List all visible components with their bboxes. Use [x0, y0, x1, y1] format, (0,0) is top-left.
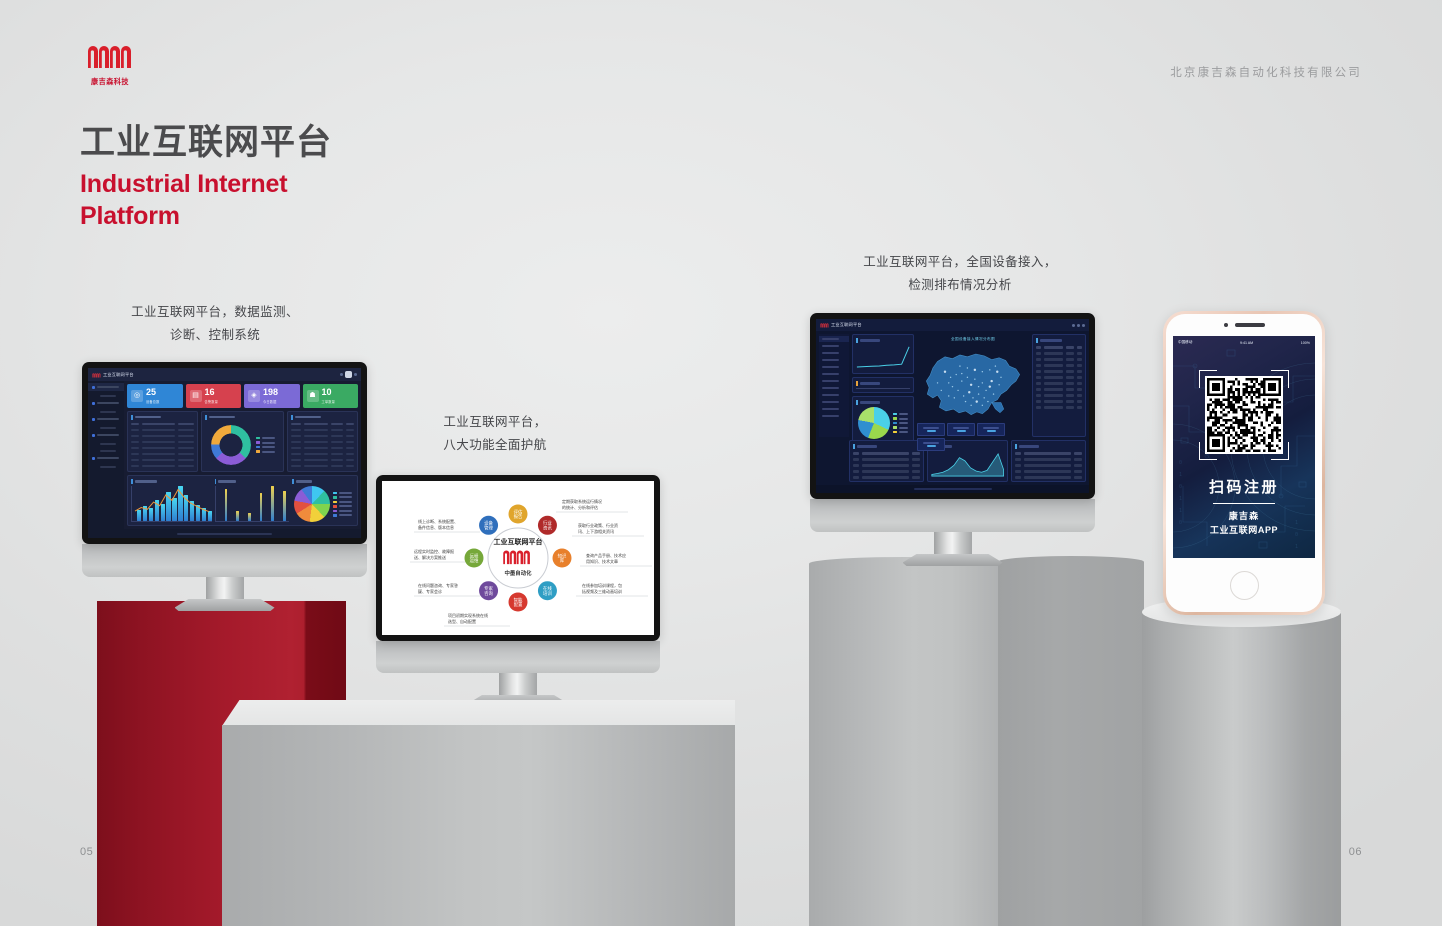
map-point[interactable]	[976, 400, 978, 402]
legend-item	[256, 441, 275, 444]
map-point[interactable]	[950, 377, 951, 378]
table-row[interactable]	[291, 458, 354, 463]
monitor3-screen[interactable]: 工业互联网平台	[816, 319, 1089, 493]
grouped-bar-series	[215, 486, 290, 522]
sidebar-item-10[interactable]	[819, 399, 849, 405]
bar	[236, 511, 239, 521]
page-number-left: 05	[80, 846, 93, 858]
table-header-row	[1036, 345, 1082, 350]
diagram-note: 备件信息、版本信息	[418, 524, 454, 530]
map-point[interactable]	[995, 365, 996, 366]
map-point[interactable]	[967, 377, 968, 378]
monitor-icon: ▤	[190, 390, 202, 402]
sidebar-item-9[interactable]	[819, 392, 849, 398]
status-carrier: 中国移动	[1178, 340, 1192, 345]
diagram-note: 线上诊断、系统配置、	[418, 518, 458, 524]
map-point[interactable]	[972, 397, 973, 398]
sidebar-subitem-2[interactable]	[88, 408, 124, 415]
kpi-card-3[interactable]: ◈198今日数据	[244, 384, 300, 408]
map-point[interactable]	[987, 401, 988, 402]
dashboard1-body: ◎25设备总数▤16告警数量◈198今日数据☗10工单数量	[88, 381, 361, 529]
table-row[interactable]	[291, 428, 354, 433]
map-point[interactable]	[982, 405, 983, 406]
map-point[interactable]	[998, 384, 999, 385]
map-point[interactable]	[978, 393, 979, 394]
map-point[interactable]	[978, 386, 979, 387]
table-row[interactable]	[1015, 457, 1082, 462]
map-point[interactable]	[959, 365, 960, 366]
map-point[interactable]	[968, 391, 970, 393]
stat-box[interactable]	[977, 423, 1005, 436]
search-icon: ◎	[131, 390, 143, 402]
monitor3-neck	[934, 532, 972, 554]
table-row[interactable]	[1036, 357, 1082, 362]
diagram-note: 用知识、技术文章	[586, 558, 618, 564]
stat-box[interactable]	[917, 438, 945, 451]
sidebar-item-8[interactable]	[819, 385, 849, 391]
page-title-en-line2: Platform	[80, 200, 287, 232]
card-title	[205, 415, 280, 420]
map-point[interactable]	[941, 390, 942, 391]
sidebar-item-1[interactable]	[819, 336, 849, 342]
map-point[interactable]	[957, 390, 958, 391]
table-row[interactable]	[131, 458, 194, 463]
bar-line-chart	[131, 479, 212, 522]
logo-text: 康吉森科技	[82, 76, 139, 87]
page-title-cn: 工业互联网平台	[80, 123, 332, 163]
map-point[interactable]	[967, 367, 968, 368]
map-point[interactable]	[956, 374, 957, 375]
page-title-en-line1: Industrial Internet	[80, 168, 287, 200]
status-battery: 100%	[1301, 341, 1310, 345]
grey-pedestal-center-right	[998, 556, 1144, 926]
bar-series	[131, 486, 212, 522]
user-icon: ☗	[307, 390, 319, 402]
table-row[interactable]	[1015, 475, 1082, 480]
diagram-note: 讯、上下游相关资讯	[578, 528, 614, 534]
cta-headline: 扫码注册	[1173, 476, 1315, 497]
card-title	[131, 479, 212, 484]
table-row[interactable]	[1036, 351, 1082, 356]
bell-icon[interactable]	[1072, 324, 1075, 327]
map-point[interactable]	[963, 395, 964, 396]
china-map[interactable]	[917, 343, 1029, 421]
dashboard3-body: 全国设备接入情况分布图	[816, 331, 1089, 440]
bell-icon[interactable]	[340, 373, 343, 376]
map-point[interactable]	[996, 371, 998, 373]
map-point[interactable]	[989, 369, 990, 370]
grouped-bar-chart	[215, 479, 290, 522]
dashboard3-left-column	[852, 334, 914, 437]
sidebar-item-3[interactable]	[819, 350, 849, 356]
table-row[interactable]	[291, 464, 354, 469]
bar-chart-card	[852, 377, 914, 393]
qr-code[interactable]	[1205, 376, 1283, 454]
dashboard1-topbar: 工业互联网平台	[88, 368, 361, 381]
cylinder-pedestal	[1142, 597, 1341, 926]
map-point[interactable]	[984, 397, 985, 398]
map-point[interactable]	[948, 395, 949, 396]
map-point[interactable]	[974, 379, 975, 380]
table-row[interactable]	[1036, 387, 1082, 392]
sidebar-item-5[interactable]	[819, 364, 849, 370]
sidebar-item-2[interactable]	[88, 399, 124, 407]
kpi-card-2[interactable]: ▤16告警数量	[186, 384, 242, 408]
map-point[interactable]	[944, 371, 946, 373]
map-point[interactable]	[974, 369, 976, 371]
status-time: 9:41 AM	[1240, 341, 1253, 345]
svg-text:中墨自动化: 中墨自动化	[505, 569, 533, 577]
line-series	[856, 345, 910, 370]
chevron-down-icon[interactable]	[1082, 324, 1085, 327]
phone-screen[interactable]: 010 110 101 中国移动 9:41 AM 100%	[1173, 336, 1315, 558]
rose-chart-shape	[294, 486, 330, 522]
avatar[interactable]	[345, 371, 352, 378]
sidebar-item-3[interactable]	[88, 415, 124, 423]
table-row[interactable]	[853, 469, 920, 474]
map-dashboard: 工业互联网平台	[816, 319, 1089, 493]
table-row[interactable]	[291, 452, 354, 457]
dashboard1-row3	[127, 475, 358, 526]
pie-legend	[893, 413, 908, 434]
smartphone: 010 110 101 中国移动 9:41 AM 100%	[1163, 311, 1325, 615]
table-body	[291, 422, 354, 469]
table-row[interactable]	[1036, 375, 1082, 380]
table-row[interactable]	[853, 457, 920, 462]
map-point[interactable]	[970, 384, 972, 386]
dashboard3-footer	[816, 485, 1089, 493]
kpi-card-1[interactable]: ◎25设备总数	[127, 384, 183, 408]
table-body	[131, 422, 194, 469]
pedestal-front-face	[222, 725, 735, 926]
card-title	[856, 400, 910, 405]
area-series	[931, 451, 1004, 478]
data-table-card-right	[287, 411, 358, 473]
table-body	[1036, 345, 1082, 433]
table-row[interactable]	[131, 428, 194, 433]
map-stat-boxes	[917, 423, 1029, 451]
phone-body: 010 110 101 中国移动 9:41 AM 100%	[1166, 314, 1322, 612]
avatar[interactable]	[1077, 324, 1080, 327]
monitor-diagram: 定期获取系统运行情况的统计、分析和评估获取行业政策、行业资讯、上下游相关资讯查询…	[376, 475, 660, 707]
home-button-icon[interactable]	[1230, 571, 1259, 600]
china-map-panel: 全国设备接入情况分布图	[917, 334, 1029, 451]
line-chart-card	[852, 334, 914, 374]
monitor2-neck	[499, 673, 537, 695]
diagram-note: 远程实时监控、故障报	[414, 548, 454, 554]
dashboard3-brand: 工业互联网平台	[820, 322, 862, 328]
card-title	[856, 338, 910, 343]
table-row[interactable]	[131, 440, 194, 445]
stat-box[interactable]	[917, 423, 945, 436]
dashboard3-user-area[interactable]	[1072, 324, 1085, 327]
kpi-card-4[interactable]: ☗10工单数量	[303, 384, 359, 408]
diagram-note: 获取行业政策、行业资	[578, 522, 618, 528]
map-point[interactable]	[989, 385, 991, 387]
grey-pedestal-box	[222, 700, 735, 926]
table-row[interactable]	[291, 446, 354, 451]
table-header-row	[291, 422, 354, 427]
dashboard3-sidebar[interactable]	[819, 334, 849, 437]
stat-box[interactable]	[947, 423, 975, 436]
table-row[interactable]	[853, 475, 920, 480]
donut-legend	[256, 437, 275, 453]
kpi-value: 16	[205, 388, 219, 397]
table-body	[1015, 451, 1082, 480]
table-row[interactable]	[291, 434, 354, 439]
shield-icon: ◈	[248, 390, 260, 402]
donut-chart-card	[201, 411, 284, 473]
diagram-node-label: 管理	[484, 525, 493, 532]
front-camera-icon	[1224, 323, 1228, 327]
svg-text:1: 1	[1295, 544, 1298, 550]
monitor2-bezel: 定期获取系统运行情况的统计、分析和评估获取行业政策、行业资讯、上下游相关资讯查询…	[376, 475, 660, 641]
donut-chart	[205, 422, 280, 469]
sidebar-item-6[interactable]	[819, 371, 849, 377]
table-body	[853, 451, 920, 480]
dashboard1-row2	[127, 411, 358, 473]
table-row[interactable]	[131, 434, 194, 439]
chart-row-card	[127, 475, 358, 526]
map-point[interactable]	[982, 382, 983, 383]
dashboard3-right-column	[1032, 334, 1086, 437]
monitor-dashboard-kpi: 工业互联网平台	[82, 362, 367, 611]
sidebar-item-12[interactable]	[819, 413, 849, 419]
sidebar-item-2[interactable]	[819, 343, 849, 349]
qr-scan-frame	[1199, 370, 1289, 460]
dashboard1-brand: 工业互联网平台	[92, 372, 134, 378]
earpiece-icon	[1235, 323, 1265, 327]
table-row[interactable]	[131, 464, 194, 469]
cta-sub2: 工业互联网APP	[1173, 524, 1315, 538]
monitor2-screen[interactable]: 定期获取系统运行情况的统计、分析和评估获取行业政策、行业资讯、上下游相关资讯查询…	[382, 481, 654, 635]
table-row[interactable]	[1036, 405, 1082, 410]
table-row[interactable]	[1015, 469, 1082, 474]
table-row[interactable]	[1036, 399, 1082, 404]
table-header-row	[1015, 451, 1082, 456]
diagram-note: 疑、专家会诊	[418, 588, 442, 594]
map-point[interactable]	[1000, 377, 1001, 378]
phone-cta: 扫码注册 康吉森 工业互联网APP	[1173, 476, 1315, 537]
table-row[interactable]	[1036, 381, 1082, 386]
diagram-node-label: 咨询	[484, 590, 493, 597]
map-point[interactable]	[948, 382, 949, 383]
eight-function-diagram: 定期获取系统运行情况的统计、分析和评估获取行业政策、行业资讯、上下游相关资讯查询…	[382, 481, 654, 635]
legend-item	[256, 446, 275, 449]
donut-chart-ring	[211, 425, 251, 465]
sidebar-subitem-4[interactable]	[88, 440, 124, 447]
diagram-note: 定期获取系统运行情况	[562, 498, 602, 504]
china-map-svg	[917, 343, 1029, 421]
legend-item	[256, 437, 275, 440]
rose-legend	[333, 492, 352, 517]
table-row[interactable]	[853, 463, 920, 468]
bar	[271, 486, 274, 521]
dashboard1-title: 工业互联网平台	[103, 372, 134, 378]
caption-monitor3: 工业互联网平台，全国设备接入，检测排布情况分析	[838, 251, 1082, 297]
map-point[interactable]	[993, 393, 994, 394]
map-point[interactable]	[937, 382, 938, 383]
rose-chart	[292, 479, 354, 522]
kjs-logo-icon	[820, 322, 829, 328]
kpi-card-row: ◎25设备总数▤16告警数量◈198今日数据☗10工单数量	[127, 384, 358, 408]
dashboard3-map-column: 全国设备接入情况分布图	[917, 334, 1029, 437]
card-title	[131, 415, 194, 420]
kpi-dashboard: 工业互联网平台	[88, 368, 361, 538]
page-title-en: Industrial Internet Platform	[80, 168, 287, 232]
pie-chart-shape	[858, 407, 890, 439]
monitor1-screen[interactable]: 工业互联网平台	[88, 368, 361, 538]
caption-monitor2: 工业互联网平台，八大功能全面护航	[390, 411, 600, 457]
sidebar-item-7[interactable]	[819, 378, 849, 384]
table-row[interactable]	[1036, 393, 1082, 398]
table-row[interactable]	[1015, 463, 1082, 468]
table-row[interactable]	[131, 452, 194, 457]
table-row[interactable]	[131, 446, 194, 451]
map-point[interactable]	[961, 373, 962, 374]
cta-divider	[1213, 503, 1275, 504]
kpi-value: 25	[146, 388, 160, 397]
monitor2-chin	[376, 641, 660, 673]
bar	[283, 491, 286, 521]
kpi-label: 工单数量	[322, 399, 336, 404]
diagram-node-label: 培训	[543, 590, 552, 597]
legend-item	[256, 450, 275, 453]
monitor-dashboard-map: 工业互联网平台	[810, 313, 1095, 566]
diagram-note: 的统计、分析和评估	[562, 504, 598, 510]
kjs-logo-icon	[92, 372, 101, 378]
table-row[interactable]	[1036, 363, 1082, 368]
map-point[interactable]	[961, 380, 962, 381]
sidebar-subitem-5[interactable]	[88, 447, 124, 454]
chevron-down-icon[interactable]	[354, 373, 357, 376]
dashboard1-user-area[interactable]	[340, 371, 357, 378]
data-table-card-left	[127, 411, 198, 473]
diagram-note: 送、解决方案推送	[414, 554, 446, 560]
kpi-value: 10	[322, 388, 336, 397]
trend-line	[132, 486, 212, 521]
sidebar-item-1[interactable]	[88, 383, 124, 391]
bar	[260, 493, 263, 521]
sidebar-item-5[interactable]	[88, 454, 124, 462]
bar	[225, 489, 228, 521]
ranking-table-card	[1032, 334, 1086, 437]
bar-series	[856, 388, 910, 389]
card-title	[1036, 338, 1082, 343]
map-point[interactable]	[985, 390, 986, 391]
sidebar-item-4[interactable]	[88, 431, 124, 439]
phone-speaker-area	[1224, 314, 1265, 336]
kpi-label: 告警数量	[205, 399, 219, 404]
card-title	[292, 479, 354, 484]
svg-text:0: 0	[1179, 460, 1182, 466]
dashboard3-topbar: 工业互联网平台	[816, 319, 1089, 331]
diagram-node-label: 库	[560, 557, 565, 564]
table-header-row	[131, 422, 194, 427]
sidebar-subitem-1[interactable]	[88, 392, 124, 399]
diagram-node-label: 运维	[470, 557, 479, 564]
dashboard1-sidebar[interactable]	[88, 381, 124, 529]
card-title	[856, 381, 910, 386]
dashboard3-title: 工业互联网平台	[831, 322, 862, 328]
sidebar-subitem-6[interactable]	[88, 463, 124, 470]
page-number-right: 06	[1349, 846, 1362, 858]
pedestal-top-face	[222, 700, 735, 726]
map-point[interactable]	[990, 380, 992, 382]
svg-text:工业互联网平台: 工业互联网平台	[494, 537, 543, 546]
company-name: 北京康吉森自动化科技有限公司	[1170, 64, 1362, 80]
kjs-logo-icon	[86, 42, 134, 68]
card-title	[215, 479, 290, 484]
diagram-svg: 定期获取系统运行情况的统计、分析和评估获取行业政策、行业资讯、上下游相关资讯查询…	[382, 481, 654, 635]
table-row[interactable]	[1036, 369, 1082, 374]
map-point[interactable]	[954, 397, 955, 398]
home-button-area[interactable]	[1230, 558, 1259, 612]
dashboard1-main: ◎25设备总数▤16告警数量◈198今日数据☗10工单数量	[124, 381, 361, 529]
card-title	[291, 415, 354, 420]
table-header-row	[853, 451, 920, 456]
kpi-value: 198	[263, 388, 278, 397]
diagram-node-label: 资讯	[543, 525, 552, 532]
dashboard1-footer	[88, 529, 361, 538]
monitor1-foot	[175, 599, 275, 611]
card-title	[853, 444, 920, 449]
diagram-note: 选型、自动配置	[448, 618, 476, 624]
pie-chart-card	[852, 396, 914, 443]
diagram-note: 括视频及三维动画培训	[582, 588, 622, 594]
kpi-label: 今日数据	[263, 399, 278, 404]
bottom-table-left	[849, 440, 924, 482]
map-title: 全国设备接入情况分布图	[951, 337, 995, 342]
brochure-page: 康吉森科技 北京康吉森自动化科技有限公司 工业互联网平台 Industrial …	[0, 0, 1442, 926]
phone-status-bar: 中国移动 9:41 AM 100%	[1173, 339, 1315, 346]
map-point[interactable]	[965, 401, 966, 402]
monitor1-bezel: 工业互联网平台	[82, 362, 367, 544]
diagram-note: 在线问题咨询、专家答	[418, 582, 458, 588]
monitor3-bezel: 工业互联网平台	[810, 313, 1095, 499]
sidebar-item-11[interactable]	[819, 406, 849, 412]
brand-logo: 康吉森科技	[80, 42, 140, 87]
monitor1-neck	[206, 577, 244, 599]
bar	[248, 513, 251, 521]
table-row[interactable]	[291, 440, 354, 445]
qr-code-svg	[1207, 378, 1281, 452]
cta-sub1: 康吉森	[1173, 510, 1315, 524]
monitor3-foot	[903, 554, 1003, 566]
map-point[interactable]	[982, 371, 983, 372]
kpi-label: 设备总数	[146, 399, 160, 404]
monitor3-chin	[810, 499, 1095, 532]
sidebar-subitem-3[interactable]	[88, 424, 124, 431]
sidebar-item-4[interactable]	[819, 357, 849, 363]
diagram-note: 在线参加培训课程，包	[582, 582, 622, 588]
diagram-node-label: 报告	[514, 513, 523, 520]
monitor1-chin	[82, 544, 367, 577]
map-point[interactable]	[970, 405, 971, 406]
grey-pedestal-center	[809, 557, 998, 926]
diagram-note: 查询产品手册、技术应	[586, 552, 626, 558]
caption-monitor1: 工业互联网平台，数据监测、诊断、控制系统	[110, 301, 320, 347]
diagram-note: 项目初期实现系统在线	[448, 612, 488, 618]
cylinder-body	[1142, 611, 1341, 926]
map-point[interactable]	[952, 386, 953, 387]
